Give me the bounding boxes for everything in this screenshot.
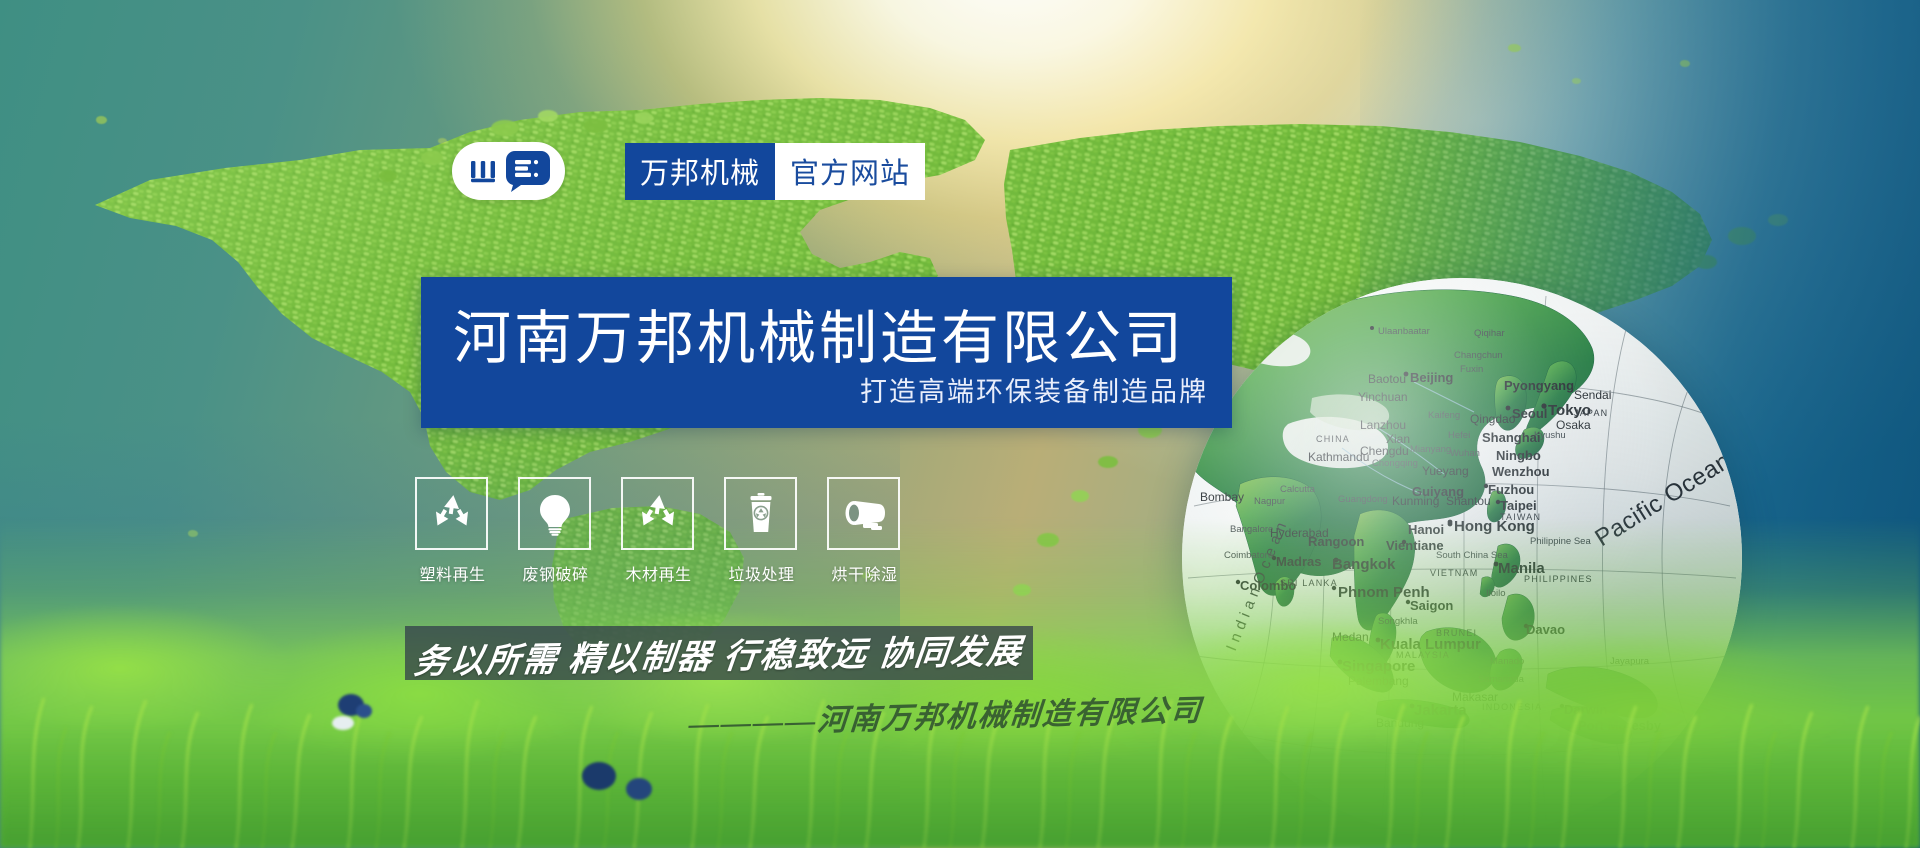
globe-city-label: Changchun [1454, 350, 1503, 361]
tab-company-name[interactable]: 万邦机械 [625, 143, 775, 200]
dryer-drum-icon [841, 494, 887, 534]
feature-label: 塑料再生 [415, 561, 490, 585]
globe-city-label: Qingdao [1470, 412, 1515, 426]
globe-city-label: Bombay [1200, 490, 1244, 504]
globe-city-label: Ulaanbaatar [1378, 326, 1430, 337]
globe-city-label: Nagpur [1254, 496, 1285, 507]
globe-city-label: Baotou [1368, 372, 1406, 386]
globe-city-label: Seoul [1512, 406, 1547, 421]
globe-country-label: JAPAN [1574, 408, 1608, 418]
leaf-speck [1680, 60, 1690, 67]
leaf-speck [438, 138, 447, 144]
globe-city-label: Beijing [1410, 370, 1453, 385]
slogan-text: 务以所需 精以制器 行稳致远 协同发展 [412, 623, 1026, 683]
globe-city-label: Yinchuan [1358, 390, 1408, 404]
globe-city-label: Kunming [1392, 494, 1439, 508]
page-title: 河南万邦机械制造有限公司 [453, 291, 1185, 375]
feature-icon-box [827, 477, 900, 550]
lightbulb-icon [533, 492, 577, 536]
leaf-speck [1572, 78, 1581, 84]
globe-city-label: Mianyang [1410, 444, 1451, 455]
globe-city-label: Kathmandu [1308, 450, 1369, 464]
leaf-speck [1508, 44, 1521, 52]
globe-city-label: Wuhan [1450, 448, 1480, 459]
globe-city-label: Lanzhou [1360, 418, 1406, 432]
w-mark-icon [466, 154, 500, 188]
logo-pill[interactable] [452, 142, 565, 200]
globe-city-label: Yueyang [1422, 464, 1469, 478]
globe-city-label: Shanghai [1482, 430, 1541, 445]
leaf-speck [96, 116, 107, 124]
globe-city-label: Guangdong [1338, 494, 1388, 505]
brand-header: 万邦机械 官方网站 [452, 142, 925, 200]
slogan-bar: 务以所需 精以制器 行稳致远 协同发展 [405, 626, 1033, 680]
feature-icon-box [518, 477, 591, 550]
berry-accent [626, 778, 652, 800]
recycle-icon [636, 492, 680, 536]
feature-label: 垃圾处理 [724, 561, 799, 585]
globe-city-label: Pyongyang [1504, 378, 1574, 393]
globe-country-label: CHINA [1316, 434, 1350, 444]
globe-city-label: Fuxin [1460, 364, 1483, 375]
globe-city-label: Fuzhou [1488, 482, 1534, 497]
globe-city-label: Shantou [1446, 494, 1491, 508]
feature-icon-box [724, 477, 797, 550]
hero-banner: Pacific OceanI n d i a n O c e a nUlaanb… [0, 0, 1920, 848]
feature-icon-box [415, 477, 488, 550]
recycle-icon [430, 492, 474, 536]
grass-shadow [0, 728, 1920, 848]
feature-item-wood-recycling[interactable]: 木材再生 [621, 477, 696, 585]
berry-accent [582, 762, 616, 790]
globe-city-label: Chongqing [1372, 458, 1418, 469]
globe-city-label: Wenzhou [1492, 464, 1550, 479]
globe-city-label: Calcutta [1280, 484, 1315, 495]
brand-tabs: 万邦机械 官方网站 [625, 143, 925, 200]
hero-title-panel: 河南万邦机械制造有限公司 打造高端环保装备制造品牌 [421, 277, 1232, 428]
globe-city-label: Ningbo [1496, 448, 1541, 463]
globe-city-label: Kaifeng [1428, 410, 1460, 421]
feature-item-drying-dehumidifying[interactable]: 烘干除湿 [827, 477, 902, 585]
trash-bin-icon [739, 492, 783, 536]
feature-item-waste-treatment[interactable]: 垃圾处理 [724, 477, 799, 585]
page-subtitle: 打造高端环保装备制造品牌 [860, 370, 1208, 409]
feature-label: 木材再生 [621, 561, 696, 585]
globe-city-label: Qiqihar [1474, 328, 1505, 339]
berry-accent [332, 716, 354, 730]
feature-item-plastic-recycling[interactable]: 塑料再生 [415, 477, 490, 585]
feature-item-scrap-steel-crushing[interactable]: 废钢破碎 [518, 477, 593, 585]
tab-official-site[interactable]: 官方网站 [775, 143, 925, 200]
feature-label: 烘干除湿 [827, 561, 902, 585]
e-speech-bubble-icon [505, 149, 551, 193]
feature-icon-strip: 塑料再生 废钢破碎 [415, 477, 902, 585]
globe-city-label: Taipei [1500, 498, 1537, 513]
globe-city-label: Hefei [1448, 430, 1470, 441]
feature-icon-box [621, 477, 694, 550]
feature-label: 废钢破碎 [518, 561, 593, 585]
globe-city-label: Sendai [1574, 388, 1611, 402]
berry-accent [356, 704, 372, 718]
